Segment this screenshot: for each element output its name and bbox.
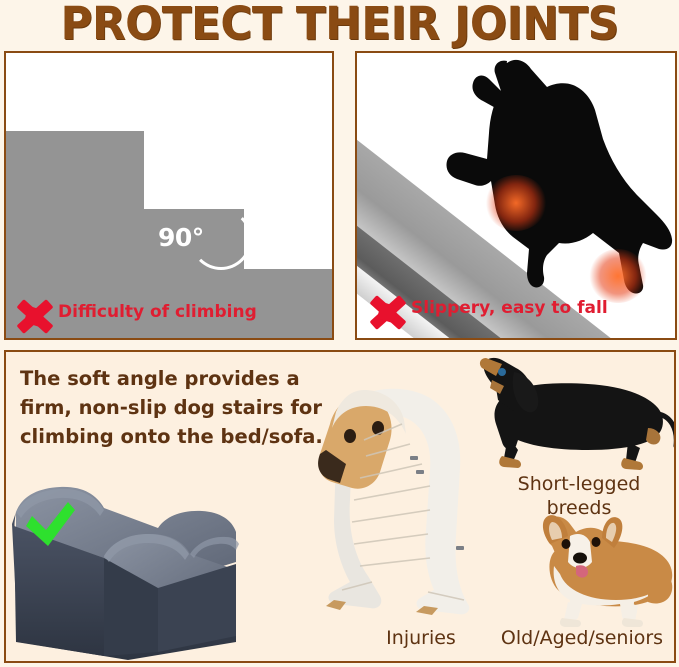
infographic-root: PROTECT THEIR JOINTS 90° Difficulty of c… xyxy=(0,0,679,667)
caption-old-aged-seniors: Old/Aged/seniors xyxy=(482,626,676,650)
caption-slippery-easy-to-fall: Slippery, easy to fall xyxy=(411,298,608,318)
panel-slippery-easy-to-fall: Slippery, easy to fall xyxy=(355,51,677,340)
panel-solution: The soft angle provides a firm, non-slip… xyxy=(4,350,676,663)
x-mark-icon xyxy=(16,297,54,335)
caption-difficulty-of-climbing: Difficulty of climbing xyxy=(58,302,257,322)
x-mark-icon xyxy=(369,293,407,331)
joint-pain-glow-front xyxy=(485,175,547,231)
pet-stairs-product-image xyxy=(8,466,240,661)
angle-label: 90° xyxy=(158,223,204,252)
caption-injuries: Injuries xyxy=(356,626,486,650)
corgi-dog-image xyxy=(508,510,676,630)
caption-short-legged-breeds: Short-legged breeds xyxy=(504,472,654,520)
check-mark-icon xyxy=(24,502,76,548)
joint-pain-glow-rear xyxy=(589,249,647,303)
panel-difficulty-of-climbing: 90° Difficulty of climbing xyxy=(4,51,334,340)
stair-step-bottom xyxy=(244,269,334,338)
solution-headline: The soft angle provides a firm, non-slip… xyxy=(20,364,350,451)
page-title: PROTECT THEIR JOINTS xyxy=(10,0,669,50)
dachshund-dog-image xyxy=(452,354,676,474)
